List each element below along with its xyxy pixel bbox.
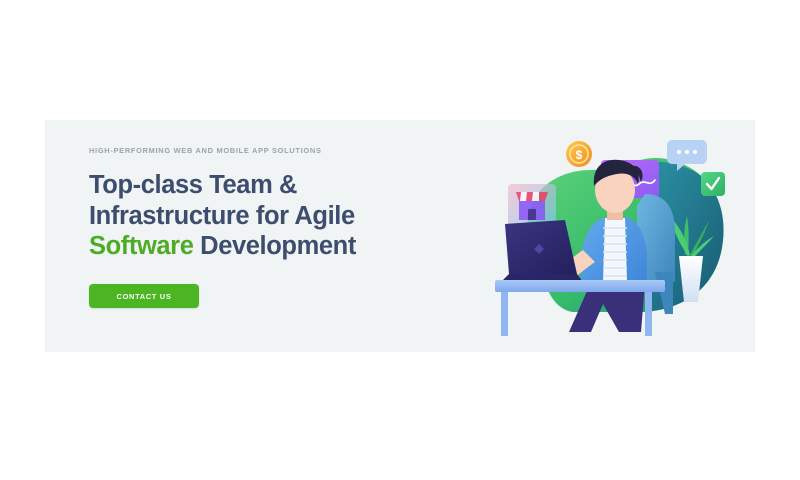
page-title: Top-class Team & Infrastructure for Agil… [89,170,419,261]
hero-eyebrow: HIGH-PERFORMING WEB AND MOBILE APP SOLUT… [89,147,419,154]
developer-at-desk-illustration: $ [495,132,740,344]
hero-panel: HIGH-PERFORMING WEB AND MOBILE APP SOLUT… [45,120,755,352]
contact-us-button[interactable]: CONTACT US [89,284,199,308]
check-badge-icon [701,172,725,196]
svg-text:$: $ [576,148,583,162]
headline-line-2: Infrastructure for Agile [89,202,355,230]
page-root: HIGH-PERFORMING WEB AND MOBILE APP SOLUT… [0,0,800,480]
headline-line-1: Top-class Team & [89,171,297,199]
headline-accent-word: Software [89,232,194,260]
hero-copy-column: HIGH-PERFORMING WEB AND MOBILE APP SOLUT… [89,147,419,308]
headline-line-3-rest: Development [194,232,356,260]
coin-dollar-icon: $ [566,141,592,167]
